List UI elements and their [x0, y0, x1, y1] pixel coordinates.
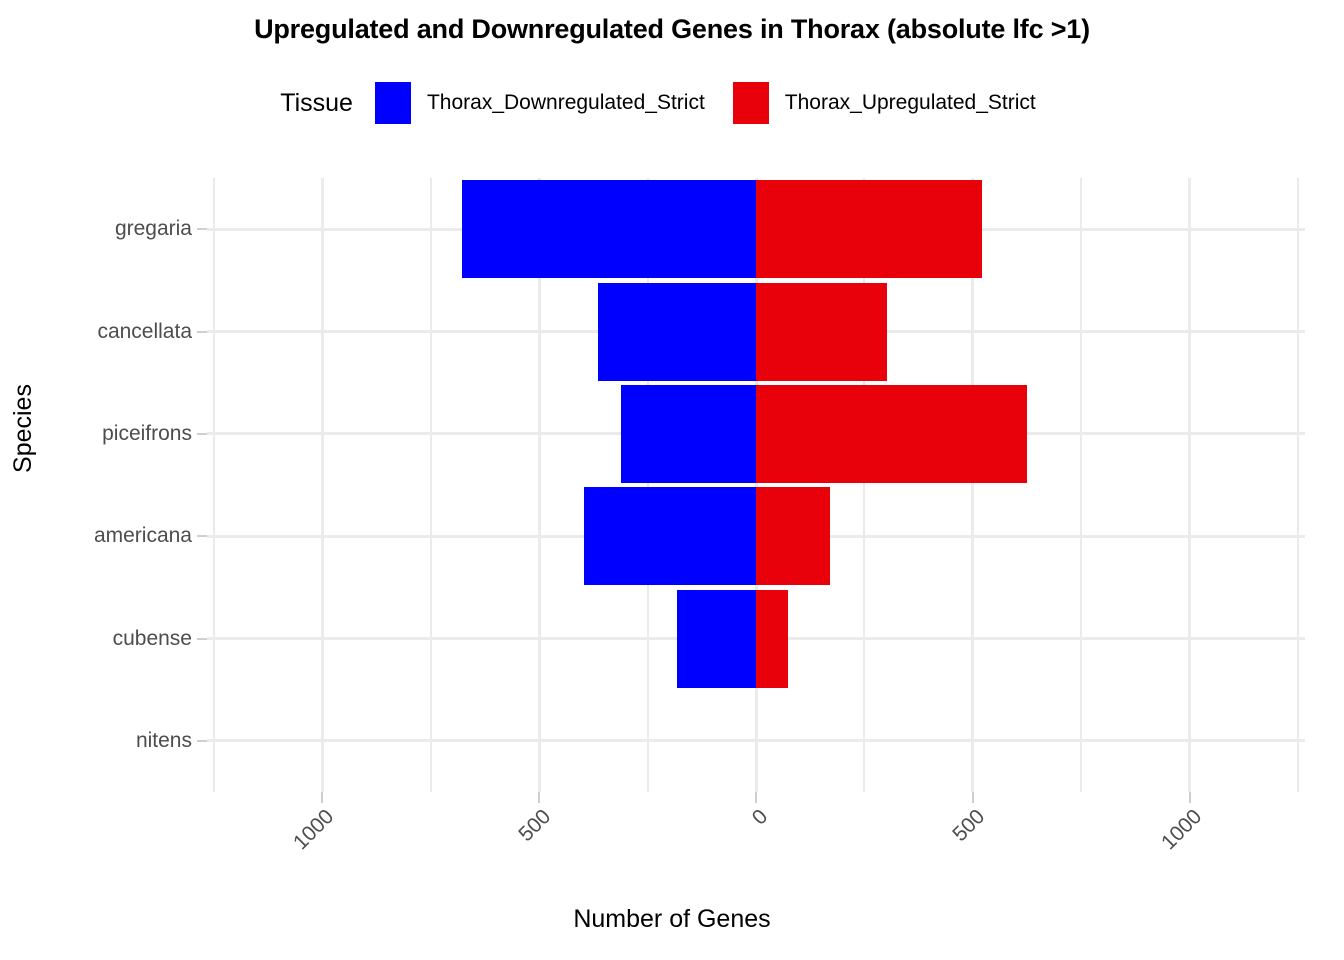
legend-label-upregulated: Thorax_Upregulated_Strict [785, 91, 1036, 115]
x-tick-label: 500 [832, 805, 990, 960]
bar-americana-upregulated[interactable] [756, 487, 830, 585]
y-tick-label-nitens: nitens [136, 729, 192, 753]
gridline-minor-vertical [213, 178, 215, 792]
legend-item-downregulated[interactable]: Thorax_Downregulated_Strict [375, 82, 705, 124]
gridline-major-vertical [321, 178, 324, 792]
bar-gregaria-downregulated[interactable] [462, 180, 756, 278]
gridline-major-vertical [1188, 178, 1191, 792]
y-tick-label-cancellata: cancellata [97, 320, 192, 344]
x-tick-label: 1000 [1049, 805, 1207, 960]
bar-americana-downregulated[interactable] [584, 487, 756, 585]
legend-title: Tissue [280, 89, 353, 118]
legend-swatch-downregulated [375, 82, 411, 124]
chart-page: Upregulated and Downregulated Genes in T… [0, 0, 1344, 960]
bar-cancellata-downregulated[interactable] [598, 283, 756, 381]
bar-gregaria-upregulated[interactable] [756, 180, 982, 278]
y-tick-mark [197, 638, 207, 640]
bar-cubense-downregulated[interactable] [677, 590, 756, 688]
legend-swatch-upregulated [733, 82, 769, 124]
bar-piceifrons-downregulated[interactable] [621, 385, 756, 483]
page-title: Upregulated and Downregulated Genes in T… [0, 14, 1344, 45]
legend-label-downregulated: Thorax_Downregulated_Strict [427, 91, 705, 115]
x-tick-mark [538, 792, 540, 803]
y-tick-mark [197, 433, 207, 435]
y-tick-label-gregaria: gregaria [115, 217, 192, 241]
gridline-minor-vertical [1297, 178, 1299, 792]
plot-panel [207, 178, 1305, 792]
y-tick-label-cubense: cubense [113, 627, 192, 651]
legend-item-upregulated[interactable]: Thorax_Upregulated_Strict [733, 82, 1036, 124]
gridline-horizontal [207, 739, 1305, 742]
x-tick-mark [321, 792, 323, 803]
x-tick-mark [755, 792, 757, 803]
y-tick-mark [197, 740, 207, 742]
x-tick-label: 500 [398, 805, 556, 960]
y-tick-labels: gregariacancellatapiceifronsamericanacub… [0, 178, 192, 792]
y-tick-mark [197, 228, 207, 230]
y-tick-label-piceifrons: piceifrons [102, 422, 192, 446]
gridline-minor-vertical [1080, 178, 1082, 792]
y-tick-mark [197, 331, 207, 333]
x-tick-label: 0 [615, 805, 773, 960]
y-tick-label-americana: americana [94, 524, 192, 548]
bar-piceifrons-upregulated[interactable] [756, 385, 1027, 483]
x-tick-mark [972, 792, 974, 803]
y-tick-mark [197, 535, 207, 537]
x-tick-label: 1000 [181, 805, 339, 960]
x-tick-mark [1189, 792, 1191, 803]
gridline-minor-vertical [430, 178, 432, 792]
legend: Tissue Thorax_Downregulated_Strict Thora… [0, 82, 1344, 124]
bar-cancellata-upregulated[interactable] [756, 283, 887, 381]
bar-cubense-upregulated[interactable] [756, 590, 788, 688]
